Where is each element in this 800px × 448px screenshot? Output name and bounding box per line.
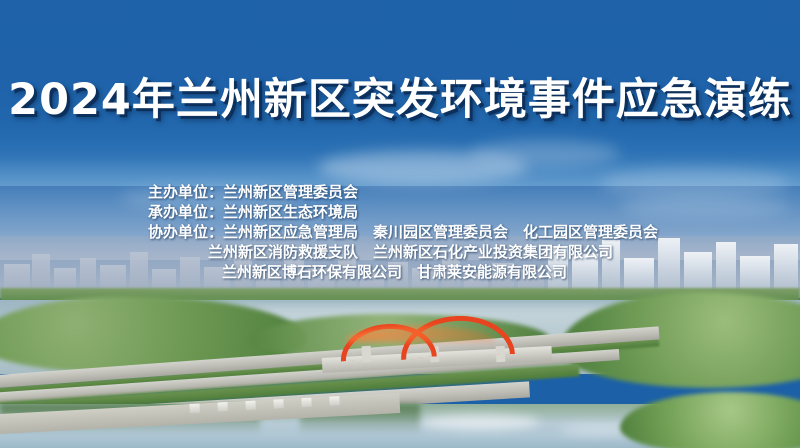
poster-banner: 2024年兰州新区突发环境事件应急演练 主办单位：兰州新区管理委员会 承办单位：…: [0, 0, 800, 448]
organizer-line-organizer: 承办单位：兰州新区生态环境局: [148, 202, 658, 222]
cloud-reflection: [420, 414, 540, 430]
red-arch-bridge: [338, 312, 514, 364]
organizer-credits: 主办单位：兰州新区管理委员会 承办单位：兰州新区生态环境局 协办单位：兰州新区应…: [148, 182, 658, 282]
poster-title: 2024年兰州新区突发环境事件应急演练: [0, 72, 800, 128]
organizer-line-coorganizer: 协办单位：兰州新区应急管理局 秦川园区管理委员会 化工园区管理委员会: [148, 222, 658, 242]
organizer-line-host: 主办单位：兰州新区管理委员会: [148, 182, 658, 202]
cloud-icon: [470, 140, 620, 166]
riverside-trees: [620, 392, 800, 448]
organizer-line-coorganizer-2: 兰州新区消防救援支队 兰州新区石化产业投资集团有限公司: [148, 242, 658, 262]
organizer-line-coorganizer-3: 兰州新区博石环保有限公司 甘肃莱安能源有限公司: [148, 262, 658, 282]
